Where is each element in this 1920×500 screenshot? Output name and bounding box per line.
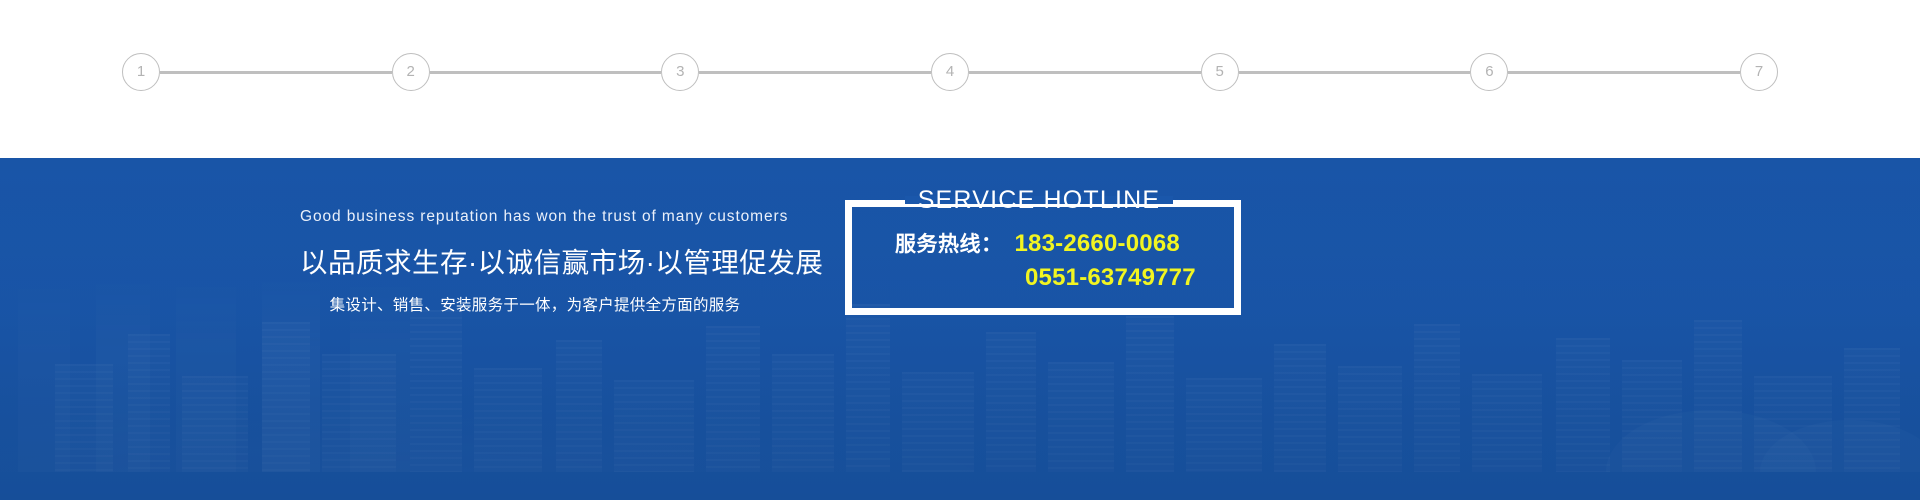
page-root: 1 2 3 4 5 6 7	[0, 0, 1920, 500]
hotline-body: 服务热线： 183-2660-0068 0551-63749777	[845, 228, 1241, 292]
slogan-subline: 集设计、销售、安装服务于一体，为客户提供全方面的服务	[300, 293, 770, 315]
hotline-secondary-row: 0551-63749777	[859, 264, 1227, 292]
slogan-block: Good business reputation has won the tru…	[300, 208, 770, 315]
hotline-title: SERVICE HOTLINE	[907, 186, 1171, 214]
step-connector-2	[430, 71, 662, 74]
hotline-primary-row: 服务热线： 183-2660-0068	[859, 228, 1227, 258]
blue-banner: Good business reputation has won the tru…	[0, 158, 1920, 500]
step-connector-1	[160, 71, 392, 74]
step-indicator: 1 2 3 4 5 6 7	[122, 52, 1778, 92]
step-node-3[interactable]: 3	[661, 53, 699, 91]
step-connector-5	[1239, 71, 1471, 74]
step-node-2[interactable]: 2	[392, 53, 430, 91]
slogan-english: Good business reputation has won the tru…	[300, 208, 770, 226]
step-node-4[interactable]: 4	[931, 53, 969, 91]
hotline-label: 服务热线：	[895, 228, 1003, 258]
step-node-6[interactable]: 6	[1470, 53, 1508, 91]
hotline-box: SERVICE HOTLINE 服务热线： 183-2660-0068 0551…	[845, 200, 1241, 315]
step-node-1[interactable]: 1	[122, 53, 160, 91]
step-connector-4	[969, 71, 1201, 74]
step-connector-6	[1508, 71, 1740, 74]
step-node-7[interactable]: 7	[1740, 53, 1778, 91]
slogan-headline: 以品质求生存·以诚信赢市场·以管理促发展	[300, 240, 770, 280]
hotline-phone-secondary[interactable]: 0551-63749777	[1025, 264, 1196, 292]
step-node-5[interactable]: 5	[1201, 53, 1239, 91]
step-connector-3	[699, 71, 931, 74]
stepper-strip: 1 2 3 4 5 6 7	[0, 0, 1920, 158]
hotline-phone-primary[interactable]: 183-2660-0068	[1015, 230, 1180, 258]
